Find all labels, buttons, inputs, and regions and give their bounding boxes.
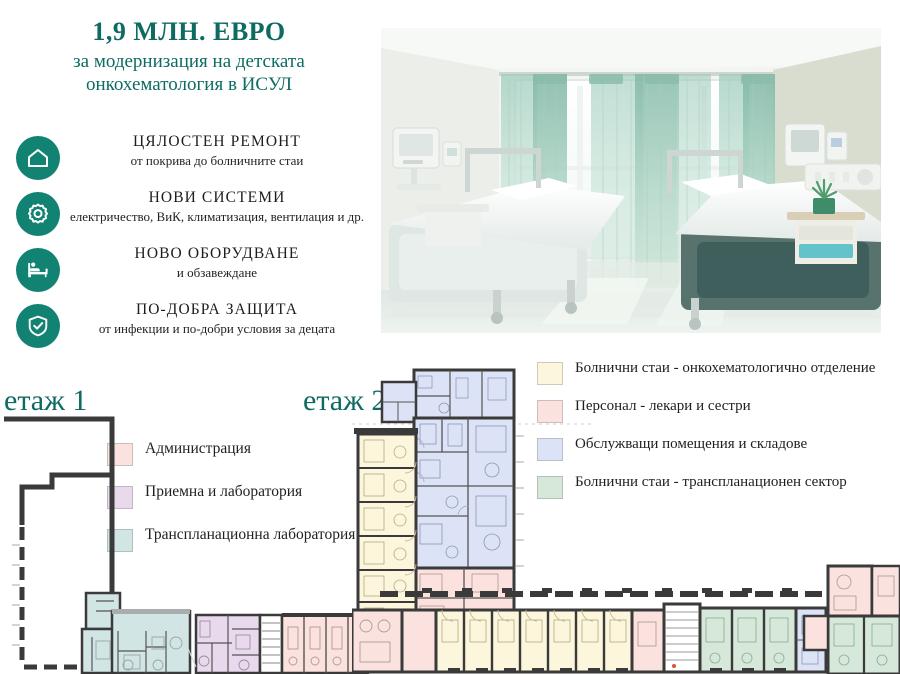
- feature-item-renovation: ЦЯЛОСТЕН РЕМОНТ от покрива до болничните…: [0, 133, 378, 185]
- feature-title: НОВИ СИСТЕМИ: [62, 189, 372, 208]
- feature-description: от инфекции и по-добри условия за децата: [62, 321, 372, 337]
- page-subtitle: за модернизация на детската онкохематоло…: [0, 50, 378, 98]
- feature-list: ЦЯЛОСТЕН РЕМОНТ от покрива до болничните…: [0, 133, 378, 357]
- header: 1,9 МЛН. ЕВРО за модернизация на детскат…: [0, 18, 378, 97]
- floor-1-label: етаж 1: [4, 386, 87, 416]
- floor-plan-2: [352, 366, 900, 674]
- hospital-bed-icon: [16, 248, 60, 292]
- page-title: 1,9 МЛН. ЕВРО: [0, 18, 378, 47]
- floor-plan-1: [0, 415, 372, 674]
- feature-title: ЦЯЛОСТЕН РЕМОНТ: [62, 133, 372, 152]
- feature-title: ПО-ДОБРА ЗАЩИТА: [62, 301, 372, 320]
- hospital-room-photo: [381, 28, 881, 333]
- feature-title: НОВО ОБОРУДВАНЕ: [62, 245, 372, 264]
- feature-item-equipment: НОВО ОБОРУДВАНЕ и обзавеждане: [0, 245, 378, 297]
- feature-description: и обзавеждане: [62, 265, 372, 281]
- feature-item-protection: ПО-ДОБРА ЗАЩИТА от инфекции и по-добри у…: [0, 301, 378, 353]
- feature-description: от покрива до болничните стаи: [62, 153, 372, 169]
- feature-description: електричество, ВиК, климатизация, вентил…: [62, 209, 372, 225]
- gear-icon: [16, 192, 60, 236]
- home-icon: [16, 136, 60, 180]
- feature-item-systems: НОВИ СИСТЕМИ електричество, ВиК, климати…: [0, 189, 378, 241]
- shield-check-icon: [16, 304, 60, 348]
